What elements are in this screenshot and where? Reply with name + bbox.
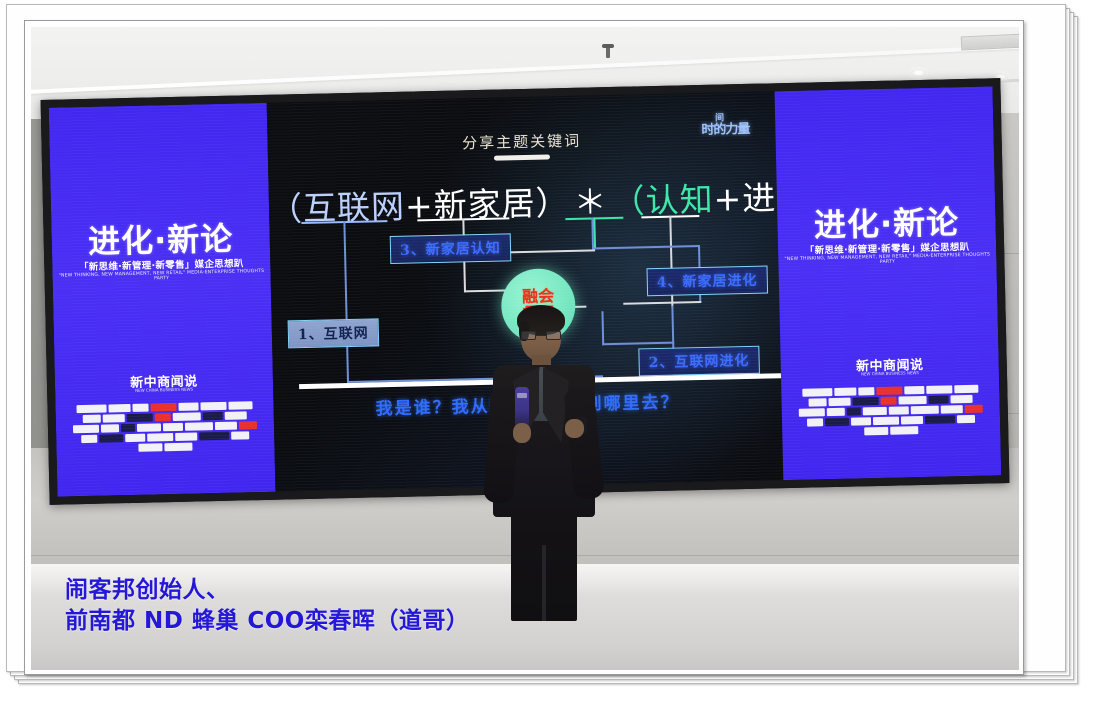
sponsor-logo-grid-right [797, 385, 984, 437]
sprinkler-icon [606, 47, 610, 58]
connector-cog-right [592, 245, 700, 249]
slide-heading: 分享主题关键词 [267, 125, 775, 158]
glasses-icon [521, 331, 561, 340]
caption-line-1: 闹客邦创始人、 [65, 575, 469, 605]
caption: 闹客邦创始人、 前南都 ND 蜂巢 COO栾春晖（道哥） [65, 575, 469, 636]
eq-multiply-operator: ＊ [573, 182, 608, 222]
eq-open-paren-1: （ [269, 189, 304, 229]
watermark-text: 时的力量 [701, 122, 749, 138]
eq-term-cognition: 认知 [645, 180, 714, 221]
connector-circle-out-right [623, 301, 701, 305]
ceiling-vent [961, 34, 1019, 51]
speaker-hand-left [513, 423, 531, 443]
speaker-hand-right [565, 419, 584, 438]
heading-underline [494, 154, 550, 160]
conference-scene: 进化·新论 「新思维·新管理·新零售」媒企思想趴 "NEW THINKING, … [31, 27, 1019, 670]
photo-stack: 进化·新论 「新思维·新管理·新零售」媒企思想趴 "NEW THINKING, … [0, 0, 1094, 701]
node-4-new-home-evolution[interactable]: 4、新家居进化 [647, 265, 768, 296]
node-2-internet-evolution[interactable]: 2、互联网进化 [638, 346, 759, 377]
speaker-legs [511, 511, 577, 621]
photograph: 进化·新论 「新思维·新管理·新零售」媒企思想趴 "NEW THINKING, … [24, 20, 1024, 675]
sponsor-logo-grid [71, 401, 258, 453]
watermark-logo: 间 时的力量 [701, 114, 750, 137]
eq-open-paren-2: （ [611, 181, 646, 221]
speaker-person [483, 299, 609, 621]
node-3-new-home-cognition[interactable]: 3、新家居认知 [390, 233, 511, 264]
eq-plus-2: + [713, 179, 743, 219]
eq-close-paren-1: ） [535, 183, 570, 223]
node-1-internet[interactable]: 1、互联网 [288, 318, 379, 348]
connector-mid-right [602, 342, 674, 346]
side-panel-right: 进化·新论 「新思维·新管理·新零售」媒企思想趴 "NEW THINKING, … [775, 86, 1002, 480]
downlight-icon [911, 69, 926, 77]
caption-line-2: 前南都 ND 蜂巢 COO栾春晖（道哥） [65, 606, 469, 636]
side-panel-left: 进化·新论 「新思维·新管理·新零售」媒企思想趴 "NEW THINKING, … [49, 103, 276, 497]
